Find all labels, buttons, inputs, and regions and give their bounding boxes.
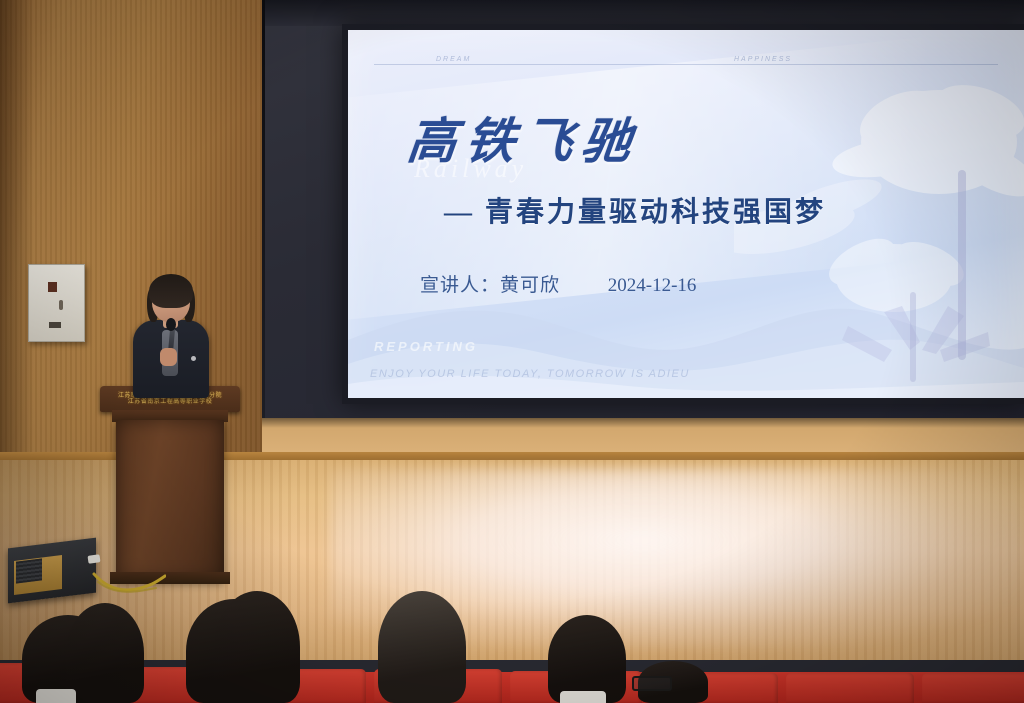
slide-subtitle: — 青春力量驱动科技强国梦 (444, 190, 826, 230)
slide-meta-line: 宣讲人：黄可欣 2024-12-16 (420, 270, 696, 297)
audience-head (66, 603, 144, 703)
back-wall-top-band (262, 0, 1024, 26)
stage-back-skirt-shadow (262, 418, 1024, 428)
slide-watermark-top-left: DREAM (436, 56, 471, 63)
stage-monitor-grille-icon (16, 558, 42, 583)
slide-watermark-top-right: HAPPINESS (734, 56, 792, 63)
slide-watermark-footer-sub: ENJOY YOUR LIFE TODAY, TOMORROW IS ADIEU (370, 368, 690, 380)
slide-top-rule (374, 64, 998, 65)
podium-nameplate-line2: 江苏省南京工程高等职业学校 (128, 399, 213, 405)
panel-keyhole-icon (59, 300, 63, 310)
audience-head (548, 615, 626, 703)
auditorium-scene: DREAM HAPPINESS 高铁飞驰 Railway — 青春力量驱动科技强… (0, 0, 1024, 703)
wall-control-panel[interactable] (28, 264, 85, 342)
microphone-icon (166, 318, 176, 331)
left-wall-shadow (0, 0, 34, 470)
audience-collar (560, 691, 606, 703)
stage-monitor-knob (88, 554, 101, 564)
speaker-badge-icon (191, 356, 196, 361)
seat[interactable] (922, 673, 1024, 703)
audience-head (378, 591, 466, 703)
seat[interactable] (786, 673, 914, 703)
slide-title-ghost: Railway (414, 154, 527, 184)
audience-head (214, 591, 300, 703)
slide-date: 2024-12-16 (608, 275, 697, 296)
panel-slot-icon (49, 322, 61, 328)
slide-presenter-label: 宣讲人：黄可欣 (420, 275, 560, 296)
slide-watermark-footer-main: REPORTING (374, 339, 478, 354)
audience-glasses-icon (632, 676, 672, 691)
stage-cable (92, 570, 166, 596)
projection-screen: DREAM HAPPINESS 高铁飞驰 Railway — 青春力量驱动科技强… (348, 30, 1024, 398)
panel-switch-icon[interactable] (48, 282, 57, 292)
wall-seam (262, 0, 265, 430)
audience-collar (36, 689, 76, 703)
speaker-hair-top (149, 274, 193, 308)
podium-body (116, 420, 224, 580)
speaker-hand (160, 348, 177, 366)
